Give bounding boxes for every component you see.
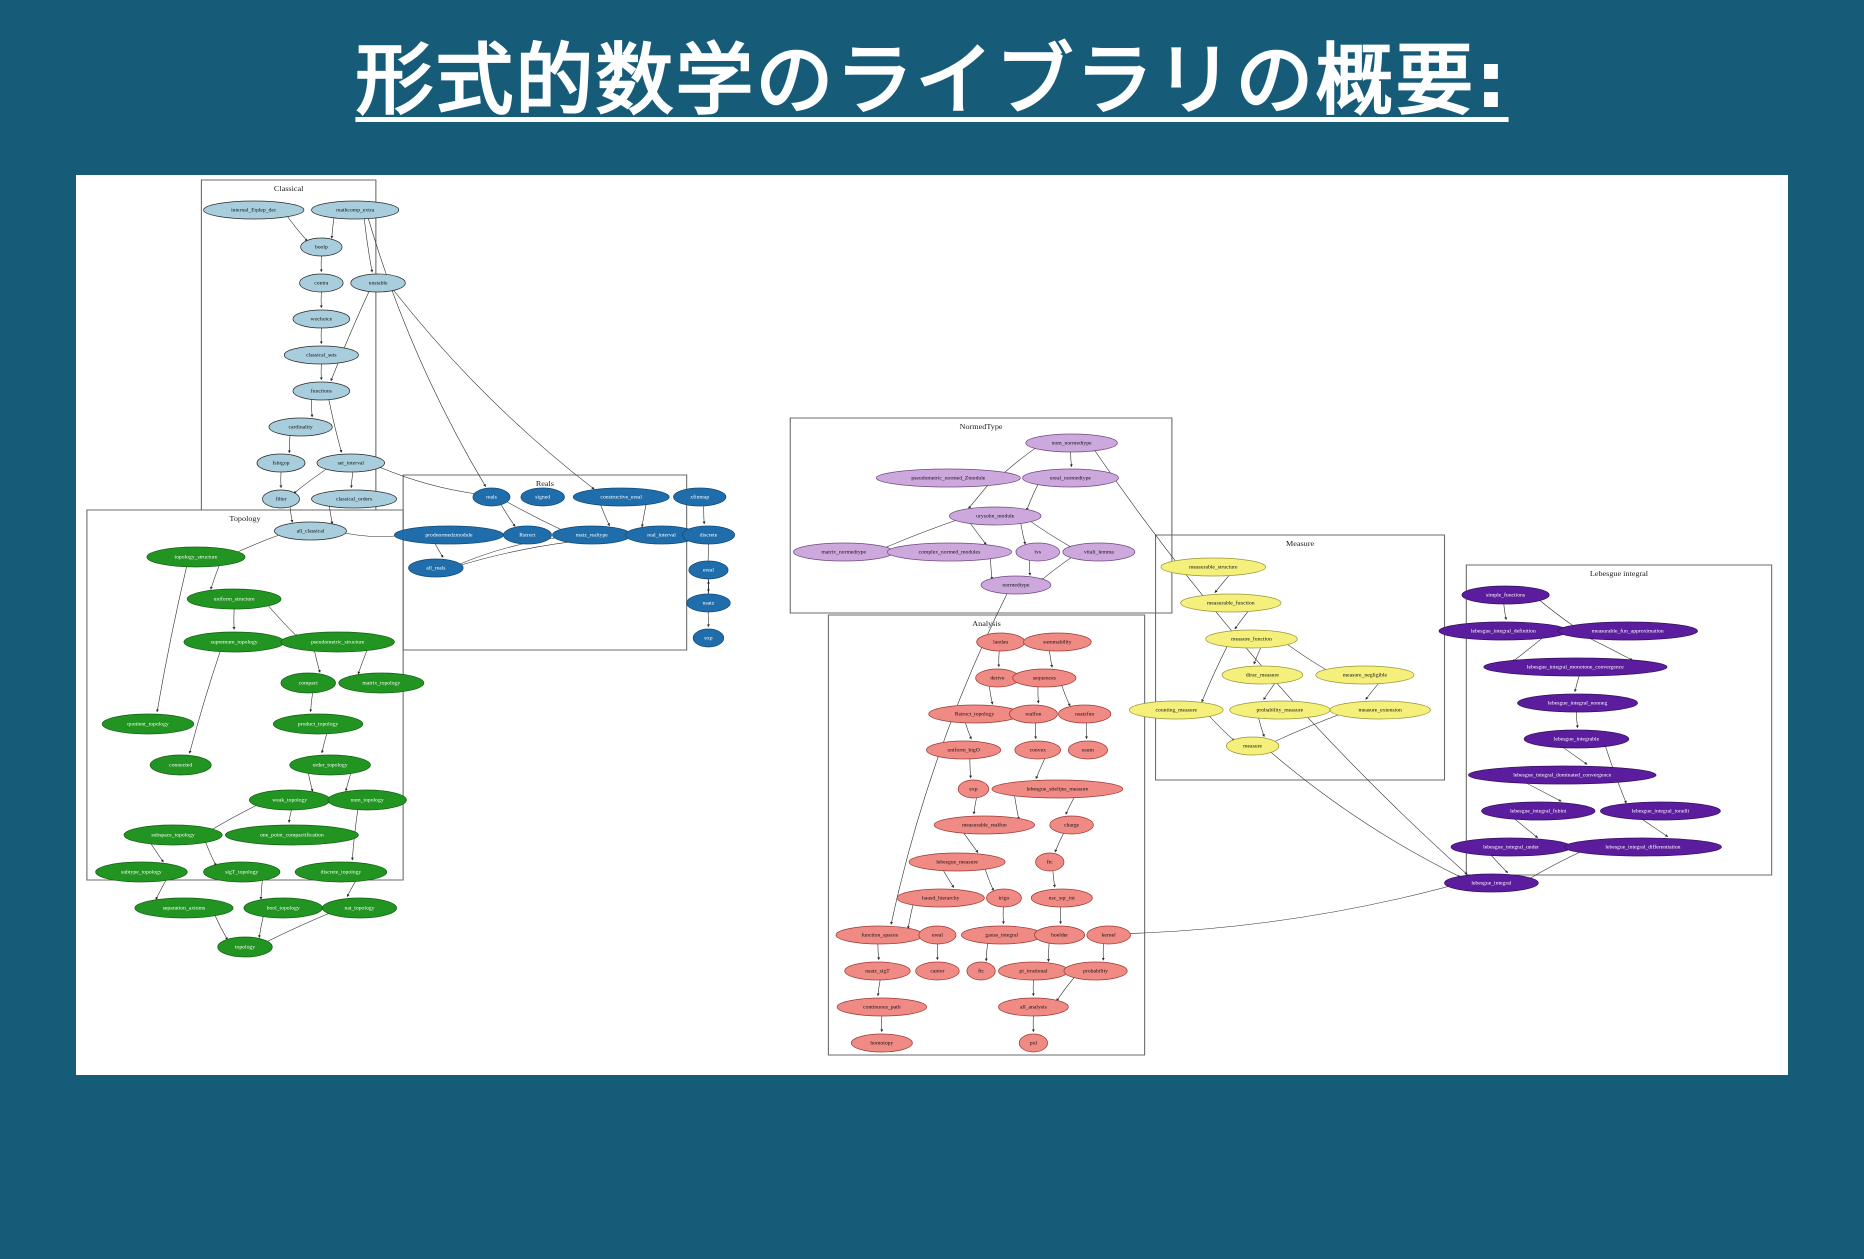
edge-supremum_topology-to-connected — [189, 651, 220, 753]
graph-node-pol[interactable]: pol — [1019, 1034, 1047, 1052]
node-label-vitali_lemma: vitali_lemma — [1084, 550, 1115, 556]
node-label-product_topology: product_topology — [298, 722, 339, 728]
graph-node-measurable_function[interactable]: measurable_function — [1181, 594, 1281, 612]
edge-constructive_ereal-to-matz_realtype — [600, 504, 609, 525]
node-label-pi_irrational: pi_irrational — [1019, 969, 1048, 975]
cluster-label-normedtype: NormedType — [960, 422, 1003, 431]
long-edge-unstable-to-constructive_ereal — [393, 289, 594, 489]
graph-node-one_point_compactification[interactable]: one_point_compactification — [225, 825, 358, 845]
node-label-mathcomp_extra: mathcomp_extra — [336, 208, 375, 214]
graph-node-subspace_topology[interactable]: subspace_topology — [124, 825, 222, 845]
graph-node-ftc[interactable]: ftc — [1036, 853, 1064, 871]
graph-node-sequences[interactable]: sequences — [1013, 669, 1076, 687]
edge-measure_function-to-dirac_measure — [1254, 648, 1261, 664]
node-label-topology: topology — [235, 945, 255, 951]
graph-node-tvs[interactable]: tvs — [1016, 543, 1060, 561]
node-label-discrete_topology: discrete_topology — [321, 870, 362, 876]
edge-probability_measure-to-measure — [1258, 717, 1264, 736]
edge-constructive_ereal-to-real_interval — [642, 503, 646, 526]
long-edge-kernel-to-lebesgue_integral — [1125, 885, 1455, 934]
node-label-nat_topology: nat_topology — [345, 906, 375, 912]
edge-uniform_bigO-to-exp_analysis — [970, 759, 971, 778]
node-label-ftc: ftc — [1047, 859, 1054, 866]
node-label-ftc2: ftc — [978, 968, 985, 975]
node-label-charge: charge — [1064, 823, 1080, 829]
graph-node-all_reals[interactable]: all_reals — [409, 559, 464, 577]
node-label-lebesgue_integral: lebesgue_integral — [1471, 881, 1511, 887]
node-label-lebesgue_integrable: lebesgue_integrable — [1554, 737, 1600, 743]
edge-compact-to-product_topology — [311, 693, 313, 712]
graph-node-subtype_topology[interactable]: subtype_topology — [96, 862, 188, 882]
edge-all_classical-to-topology_structure — [233, 533, 284, 554]
node-label-tvs: tvs — [1034, 550, 1041, 556]
graph-node-hausd_hierarchy[interactable]: hausd_hierarchy — [897, 889, 984, 907]
node-label-lebesgue_integral_differentiation: lebesgue_integral_differentiation — [1605, 844, 1680, 851]
node-label-derive: derive — [990, 676, 1005, 682]
node-label-continuous_path: continuous_path — [863, 1005, 901, 1011]
edge-lebesgue_integrable-to-lebesgue_integral_dominated_convergence — [1563, 747, 1587, 764]
graph-node-hoelder[interactable]: hoelder — [1035, 926, 1085, 944]
node-label-filter: filter — [275, 496, 286, 503]
edge-convex-to-lebesgue_stieltjes_measure — [1036, 758, 1045, 779]
edge-lebesgue_stieltjes_measure-to-measurable_realfun — [1014, 793, 1019, 819]
node-label-lebesgue_stieltjes_measure: lebesgue_stieltjes_measure — [1027, 787, 1089, 793]
edge-urysohn_module-to-tvs — [1020, 522, 1025, 544]
node-label-order_topology: order_topology — [313, 763, 348, 769]
graph-node-bool_topology[interactable]: bool_topology — [244, 898, 323, 918]
node-label-ereal: ereal — [703, 568, 715, 574]
edge-uniform_structure-to-pseudometric_structure — [266, 603, 297, 637]
node-label-subspace_topology: subspace_topology — [151, 833, 195, 839]
node-label-matrix_normedtype: matrix_normedtype — [821, 550, 866, 556]
node-label-measurable_fun_approximation: measurable_fun_approximation — [1592, 628, 1664, 635]
node-label-landau: landau — [993, 640, 1008, 646]
node-label-measure_extension: measure_extension — [1358, 708, 1402, 714]
edge-sequences-to-nsatz_realtype — [1061, 684, 1070, 706]
node-label-measure: measure — [1243, 744, 1262, 750]
edge-counting_measure-to-measure — [1208, 714, 1235, 741]
node-label-fsbigop: fsbigop — [273, 460, 290, 467]
edge-nsatz_sigT-to-continuous_path — [878, 980, 880, 996]
node-label-exp_analysis: exp — [969, 787, 977, 793]
edge-set_interval-to-filter — [294, 467, 329, 493]
graph-node-lebesgue_integral_dominated_convergence[interactable]: lebesgue_integral_dominated_convergence — [1468, 766, 1656, 784]
edge-filter-to-all_classical — [290, 506, 292, 523]
node-label-ereal_normedtype: ereal_normedtype — [1050, 476, 1092, 482]
graph-node-complex_normed_modules[interactable]: complex_normed_modules — [887, 543, 1011, 561]
edge-num_normedtype-to-pseudometric_normed_Zmodule — [1002, 446, 1039, 475]
graph-node-functions[interactable]: functions — [293, 382, 350, 400]
graph-node-topology[interactable]: topology — [218, 937, 273, 957]
node-label-exp_reals: exp — [704, 636, 712, 642]
node-label-ereal_sup: esum — [1082, 748, 1095, 754]
node-label-constructive_ereal: constructive_ereal — [600, 495, 642, 501]
node-label-lebesgue_integral_tonelli: lebesgue_integral_tonelli — [1632, 809, 1690, 815]
graph-node-urysohn_module[interactable]: urysohn_module — [949, 507, 1041, 525]
node-label-normedtype: normedtype — [1002, 583, 1030, 589]
graph-node-realfun[interactable]: realfun — [1009, 705, 1057, 723]
edge-set_interval-to-classical_orders — [351, 472, 353, 488]
edge-mathcomp_extra-to-boolp — [332, 217, 334, 238]
node-label-lebesgue_integral_under: lebesgue_integral_under — [1483, 845, 1539, 851]
graph-node-discrete_topology[interactable]: discrete_topology — [295, 862, 387, 882]
graph-node-probability[interactable]: probability — [1064, 962, 1127, 980]
node-label-simple_functions: simple_functions — [1486, 592, 1525, 599]
node-label-trigo: trigo — [999, 896, 1010, 902]
graph-node-all_analysis[interactable]: all_analysis — [999, 998, 1069, 1016]
edge-pseudometric_normed_Zmodule-to-urysohn_module — [968, 484, 988, 509]
edge-separation_axioms-to-topology — [214, 914, 227, 940]
graph-node-nat_topology[interactable]: nat_topology — [322, 898, 396, 918]
cluster-label-topology: Topology — [229, 514, 260, 523]
node-label-uniform_bigO: uniform_bigO — [947, 747, 980, 754]
graph-node-compact[interactable]: compact — [281, 673, 336, 693]
graph-node-lebesgue_integral_definition[interactable]: lebesgue_integral_definition — [1439, 622, 1568, 640]
node-label-discrete: discrete — [700, 533, 718, 539]
node-label-homotopy: homotopy — [870, 1041, 893, 1047]
node-label-hoelder: hoelder — [1051, 933, 1068, 939]
edge-probability-to-all_analysis — [1056, 976, 1075, 1001]
graph-node-nsatz[interactable]: nsatz — [687, 594, 731, 612]
graph-node-constructive_ereal[interactable]: constructive_ereal — [573, 488, 669, 506]
node-label-separation_axioms: separation_axioms — [163, 906, 206, 912]
graph-node-function_spaces[interactable]: function_spaces — [836, 926, 923, 944]
graph-node-lebesgue_integral_under[interactable]: lebesgue_integral_under — [1451, 838, 1571, 856]
edge-lebesgue_integral_fubini-to-lebesgue_integral_under — [1514, 818, 1538, 837]
graph-node-cantor[interactable]: cantor — [916, 962, 960, 980]
node-label-counting_measure: counting_measure — [1155, 708, 1197, 714]
graph-node-weak_topology[interactable]: weak_topology — [249, 790, 330, 810]
graph-node-quotient_topology[interactable]: quotient_topology — [102, 714, 194, 734]
edge-sequences-to-realfun — [1038, 687, 1039, 703]
graph-node-set_interval[interactable]: set_interval — [317, 454, 385, 472]
node-label-measure_negligible: measure_negligible — [1343, 673, 1388, 679]
graph-node-measurable_structure[interactable]: measurable_structure — [1161, 558, 1266, 576]
edge-product_topology-to-order_topology — [322, 734, 327, 753]
edge-charge-to-ftc — [1055, 833, 1064, 852]
edge-measure_negligible-to-measure_extension — [1366, 683, 1379, 699]
node-label-one_point_compactification: one_point_compactification — [260, 832, 324, 839]
graph-node-fsbigop[interactable]: fsbigop — [257, 454, 305, 472]
node-label-sigT_topology: sigT_topology — [225, 870, 258, 876]
graph-node-homotopy[interactable]: homotopy — [851, 1034, 912, 1052]
graph-node-convex[interactable]: convex — [1015, 741, 1061, 759]
long-edge-num_normedtype-to-lebesgue_integral — [1094, 450, 1467, 875]
graph-node-supremum_topology[interactable]: supremum_topology — [184, 632, 284, 652]
graph-node-lebesgue_integral_nonneg[interactable]: lebesgue_integral_nonneg — [1518, 694, 1638, 712]
node-label-pseudometric_normed_Zmodule: pseudometric_normed_Zmodule — [911, 476, 986, 482]
edge-reals-to-Rstruct — [501, 504, 516, 527]
node-label-lebesgue_integral_definition: lebesgue_integral_definition — [1471, 628, 1536, 635]
node-label-measurable_structure: measurable_structure — [1189, 565, 1238, 571]
graph-node-lebesgue_integrable[interactable]: lebesgue_integrable — [1524, 730, 1629, 748]
slide-title: 形式的数学のライブラリの概要: — [0, 18, 1864, 130]
graph-node-contra[interactable]: contra — [300, 274, 344, 292]
edge-subspace_topology-to-sigT_topology — [205, 840, 216, 866]
graph-node-pi_irrational_sup[interactable]: nsc_sqr_int — [1031, 889, 1092, 907]
graph-node-ereal[interactable]: ereal — [689, 561, 728, 579]
edge-measurable_function-to-measure_function — [1235, 611, 1249, 629]
graph-node-unstable[interactable]: unstable — [351, 274, 406, 292]
cluster-box-lebesgue — [1466, 565, 1771, 875]
graph-node-lebesgue_stieltjes_measure[interactable]: lebesgue_stieltjes_measure — [992, 780, 1123, 798]
graph-node-classical_orders[interactable]: classical_orders — [312, 490, 397, 508]
edge-exp_analysis-to-measurable_realfun — [974, 798, 977, 814]
cluster-label-lebesgue: Lebesgue integral — [1590, 569, 1649, 578]
node-label-dirac_measure: dirac_measure — [1246, 673, 1280, 679]
edge-pseudometric_structure-to-compact — [314, 650, 320, 672]
edge-derive-to-Rstruct_topology — [989, 686, 992, 705]
graph-node-lebesgue_measure[interactable]: lebesgue_measure — [909, 853, 1005, 871]
graph-node-filter[interactable]: filter — [262, 490, 299, 508]
graph-node-normedtype[interactable]: normedtype — [981, 576, 1051, 594]
node-label-lebesgue_integral_monotone_convergence: lebesgue_integral_monotone_convergence — [1527, 665, 1624, 671]
graph-node-signed[interactable]: signed — [521, 488, 565, 506]
node-label-probability_measure: probability_measure — [1257, 708, 1304, 714]
node-label-wochoice: wochoice — [310, 317, 332, 323]
edge-unstable-to-functions — [331, 291, 369, 381]
graph-node-measurable_realfun[interactable]: measurable_realfun — [934, 816, 1034, 834]
edge-xfinmap-to-discrete — [704, 506, 705, 524]
node-label-cantor: cantor — [930, 969, 944, 975]
edge-lebesgue_measure-to-hausd_hierarchy — [943, 870, 954, 887]
graph-node-connected[interactable]: connected — [150, 755, 211, 775]
node-label-num_normedtype: num_normedtype — [1052, 441, 1093, 447]
node-label-unstable: unstable — [369, 281, 388, 287]
graph-node-uniform_bigO[interactable]: uniform_bigO — [927, 741, 1001, 759]
edge-sigT_topology-to-bool_topology — [261, 879, 263, 900]
node-label-boolp: boolp — [315, 245, 328, 251]
node-label-pi_irrational_sup: nsc_sqr_int — [1049, 896, 1076, 902]
node-label-signed: signed — [535, 495, 550, 501]
graph-node-lebesgue_integral_monotone_convergence[interactable]: lebesgue_integral_monotone_convergence — [1484, 658, 1667, 676]
long-edge-mathcomp_extra-to-reals — [368, 218, 485, 486]
node-label-measure_function: measure_function — [1231, 636, 1272, 643]
edge-lebesgue_measure-to-trigo — [985, 868, 994, 891]
graph-node-pseudometric_normed_Zmodule[interactable]: pseudometric_normed_Zmodule — [876, 469, 1020, 487]
node-label-pseudometric_structure: pseudometric_structure — [311, 640, 365, 646]
node-label-probability: probability — [1083, 969, 1108, 975]
node-label-measurable_realfun: measurable_realfun — [962, 822, 1007, 829]
node-label-lebesgue_integral_fubini: lebesgue_integral_fubini — [1510, 808, 1567, 815]
node-label-realfun: realfun — [1025, 711, 1041, 718]
graph-node-measure_extension[interactable]: measure_extension — [1330, 701, 1430, 719]
graph-node-simple_functions[interactable]: simple_functions — [1462, 586, 1549, 604]
graph-node-counting_measure[interactable]: counting_measure — [1129, 701, 1223, 719]
edge-lebesgue_stieltjes_measure-to-charge — [1066, 797, 1074, 814]
graph-node-pi_irrational[interactable]: pi_irrational — [999, 962, 1069, 980]
node-label-lebesgue_integral_dominated_convergence: lebesgue_integral_dominated_convergence — [1513, 773, 1612, 779]
node-label-complex_normed_modules: complex_normed_modules — [919, 550, 981, 556]
node-label-urysohn_module: urysohn_module — [976, 514, 1015, 520]
graph-node-trigo[interactable]: trigo — [987, 889, 1022, 907]
edge-subspace_topology-to-subtype_topology — [150, 843, 163, 862]
graph-node-internal_Eqdep_dec[interactable]: internal_Eqdep_dec — [204, 201, 304, 219]
edge-pseudometric_structure-to-matrix_topology — [358, 649, 367, 674]
graph-node-mathcomp_extra[interactable]: mathcomp_extra — [312, 201, 399, 219]
edge-tvs-to-normedtype — [1029, 560, 1030, 576]
edge-complex_normed_modules-to-normedtype — [990, 556, 992, 579]
graph-node-Rstruct_topology[interactable]: Rstruct_topology — [929, 705, 1021, 723]
graph-node-wochoice[interactable]: wochoice — [293, 310, 350, 328]
graph-node-measurable_fun_approximation[interactable]: measurable_fun_approximation — [1558, 622, 1698, 640]
graph-node-topology_structure[interactable]: topology_structure — [147, 547, 245, 567]
graph-node-summability[interactable]: summability — [1024, 633, 1092, 651]
graph-node-measure_function[interactable]: measure_function — [1206, 630, 1298, 648]
graph-node-vitali_lemma[interactable]: vitali_lemma — [1063, 543, 1135, 561]
node-label-connected: connected — [169, 763, 192, 769]
cluster-boxes: ClassicalTopologyRealsNormedTypeAnalysis… — [87, 180, 1772, 1055]
graph-node-nsatz_sigT[interactable]: nsatz_sigT — [845, 962, 910, 980]
node-label-nsatz: nsatz — [703, 601, 715, 607]
node-label-lebesgue_measure: lebesgue_measure — [936, 860, 978, 866]
node-label-function_spaces: function_spaces — [861, 932, 898, 939]
edge-cardinality-to-fsbigop — [289, 435, 290, 453]
graph-node-lebesgue_integral_differentiation[interactable]: lebesgue_integral_differentiation — [1564, 838, 1721, 856]
edge-gauss_integral-to-ftc2 — [986, 943, 987, 961]
node-label-all_analysis: all_analysis — [1020, 1005, 1047, 1011]
graph-node-Rstruct[interactable]: Rstruct — [503, 526, 551, 544]
graph-node-exp_analysis[interactable]: exp — [958, 780, 989, 798]
edge-measurable_realfun-to-lebesgue_measure — [963, 832, 978, 852]
node-label-kernel: kernel — [1102, 933, 1117, 939]
node-label-lebesgue_integral_nonneg: lebesgue_integral_nonneg — [1548, 701, 1608, 707]
graph-node-ftc2[interactable]: ftc — [967, 962, 995, 980]
graph-node-reals[interactable]: reals — [473, 488, 510, 506]
edge-lebesgue_integral_tonelli-to-lebesgue_integral_differentiation — [1642, 819, 1668, 836]
graph-node-num_topology[interactable]: num_topology — [328, 790, 407, 810]
edge-topology_structure-to-quotient_topology — [157, 567, 187, 712]
node-label-uniform_structure: uniform_structure — [214, 596, 256, 603]
graph-node-separation_axioms[interactable]: separation_axioms — [135, 898, 233, 918]
node-label-bool_topology: bool_topology — [267, 906, 300, 912]
node-label-Rstruct: Rstruct — [519, 533, 536, 539]
graph-node-cardinality[interactable]: cardinality — [269, 418, 332, 436]
graph-node-lebesgue_integral_tonelli[interactable]: lebesgue_integral_tonelli — [1600, 802, 1720, 820]
cluster-label-reals: Reals — [536, 479, 554, 488]
edge-ftc-to-pi_irrational_sup — [1053, 871, 1055, 888]
edge-lebesgue_integral_monotone_convergence-to-lebesgue_integral_nonneg — [1575, 676, 1579, 692]
node-label-num_topology: num_topology — [351, 798, 384, 804]
edge-hoelder-to-pi_irrational — [1048, 942, 1049, 961]
node-label-reals: reals — [486, 495, 497, 501]
graph-node-uniform_structure[interactable]: uniform_structure — [187, 589, 281, 609]
node-label-sequences: sequences — [1033, 676, 1056, 682]
edge-lebesgue_integral_under-to-lebesgue_integral — [1491, 855, 1508, 873]
graph-node-measure_negligible[interactable]: measure_negligible — [1316, 666, 1414, 684]
node-label-functions: functions — [311, 388, 332, 395]
edge-urysohn_module-to-complex_normed_modules — [969, 522, 986, 545]
edge-ereal_normedtype-to-urysohn_module — [1027, 482, 1039, 510]
graph-node-xfinmap[interactable]: xfinmap — [674, 488, 726, 506]
edge-classical_orders-to-all_classical — [329, 505, 332, 524]
graph-node-matrix_topology[interactable]: matrix_topology — [339, 673, 424, 693]
graph-node-pseudometric_structure[interactable]: pseudometric_structure — [281, 632, 394, 652]
edge-internal_Eqdep_dec-to-boolp — [286, 215, 307, 242]
graph-node-discrete[interactable]: discrete — [682, 526, 734, 544]
node-label-convex: convex — [1030, 748, 1047, 754]
node-label-measurable_function: measurable_function — [1207, 600, 1255, 607]
graph-node-matz_realtype[interactable]: matz_realtype — [553, 526, 632, 544]
graph-node-lebesgue_integral_fubini[interactable]: lebesgue_integral_fubini — [1482, 802, 1595, 820]
graph-node-nsatz_realtype[interactable]: nsatzfun — [1058, 705, 1110, 723]
edge-num_normedtype-to-ereal_normedtype — [1071, 452, 1072, 467]
graph-node-continuous_path[interactable]: continuous_path — [837, 998, 926, 1016]
graph-node-gauss_integral[interactable]: gauss_integral — [961, 926, 1042, 944]
edge-topology_structure-to-uniform_structure — [211, 565, 220, 590]
graph-node-classical_sets[interactable]: classical_sets — [284, 346, 358, 364]
node-label-summability: summability — [1043, 640, 1072, 646]
graph-node-matrix_normedtype[interactable]: matrix_normedtype — [794, 543, 894, 561]
graph-node-num_normedtype[interactable]: num_normedtype — [1026, 434, 1118, 452]
graph-node-ereal_node[interactable]: ereal — [919, 926, 956, 944]
edge-hausd_hierarchy-to-function_spaces — [908, 903, 913, 929]
node-label-Rstruct_topology: Rstruct_topology — [955, 712, 995, 718]
edge-lebesgue_integral_nonneg-to-lebesgue_integrable — [1576, 712, 1577, 728]
graph-node-dirac_measure[interactable]: dirac_measure — [1222, 666, 1303, 684]
edge-simple_functions-to-lebesgue_integral_definition — [1504, 604, 1506, 620]
graph-node-landau[interactable]: landau — [977, 633, 1025, 651]
node-label-hausd_hierarchy: hausd_hierarchy — [922, 896, 960, 902]
edge-lebesgue_integral_dominated_convergence-to-lebesgue_integral_fubini — [1526, 783, 1562, 802]
edge-summability-to-sequences — [1049, 651, 1052, 668]
node-label-matrix_topology: matrix_topology — [362, 681, 400, 687]
graph-node-prodnormedzmodule[interactable]: prodnormedzmodule — [394, 526, 503, 544]
graph-node-measure[interactable]: measure — [1226, 737, 1278, 755]
edge-simple_functions-to-measurable_fun_approximation — [1537, 598, 1576, 628]
graph-node-charge[interactable]: charge — [1050, 816, 1094, 834]
node-label-prodnormedzmodule: prodnormedzmodule — [425, 533, 473, 539]
graph-node-kernel[interactable]: kernel — [1087, 926, 1131, 944]
node-label-matz_realtype: matz_realtype — [576, 533, 609, 539]
edge-Rstruct_topology-to-uniform_bigO — [965, 723, 971, 739]
graph-node-product_topology[interactable]: product_topology — [273, 714, 362, 734]
node-label-pol: pol — [1030, 1041, 1038, 1047]
graph-node-sigT_topology[interactable]: sigT_topology — [204, 862, 280, 882]
node-label-internal_Eqdep_dec: internal_Eqdep_dec — [231, 208, 277, 214]
graph-node-probability_measure[interactable]: probability_measure — [1230, 701, 1330, 719]
edge-measurable_structure-to-measurable_function — [1215, 575, 1229, 592]
edge-measure_function-to-measure_negligible — [1284, 642, 1329, 671]
edge-order_topology-to-weak_topology — [308, 772, 312, 792]
node-label-topology_structure: topology_structure — [175, 555, 218, 561]
graph-node-ereal_sup[interactable]: esum — [1068, 741, 1107, 759]
node-label-subtype_topology: subtype_topology — [121, 870, 162, 876]
graph-node-boolp[interactable]: boolp — [301, 238, 342, 256]
node-label-compact: compact — [299, 681, 319, 687]
long-edge-measure-to-lebesgue_integral — [1269, 751, 1460, 877]
node-label-cardinality: cardinality — [289, 425, 314, 431]
node-label-nsatz_sigT: nsatz_sigT — [865, 969, 890, 975]
dependency-graph: ClassicalTopologyRealsNormedTypeAnalysis… — [76, 175, 1788, 1075]
node-label-nsatz_realtype: nsatzfun — [1075, 711, 1094, 718]
graph-node-lebesgue_integral[interactable]: lebesgue_integral — [1445, 874, 1539, 892]
node-label-quotient_topology: quotient_topology — [127, 722, 169, 728]
long-edge-set_interval-to-reals — [375, 465, 477, 494]
edge-order_topology-to-num_topology — [346, 772, 351, 791]
node-label-weak_topology: weak_topology — [272, 798, 307, 804]
node-label-all_classical: all_classical — [297, 529, 325, 535]
graph-node-order_topology[interactable]: order_topology — [290, 755, 371, 775]
graph-canvas: ClassicalTopologyRealsNormedTypeAnalysis… — [76, 175, 1788, 1075]
edge-function_spaces-to-nsatz_sigT — [878, 944, 879, 960]
node-label-supremum_topology: supremum_topology — [211, 640, 258, 646]
graph-node-ereal_normedtype[interactable]: ereal_normedtype — [1023, 469, 1119, 487]
graph-node-all_classical[interactable]: all_classical — [274, 522, 346, 540]
graph-node-exp_reals[interactable]: exp — [693, 629, 724, 647]
node-label-contra: contra — [314, 281, 329, 287]
edge-dirac_measure-to-probability_measure — [1264, 683, 1275, 700]
